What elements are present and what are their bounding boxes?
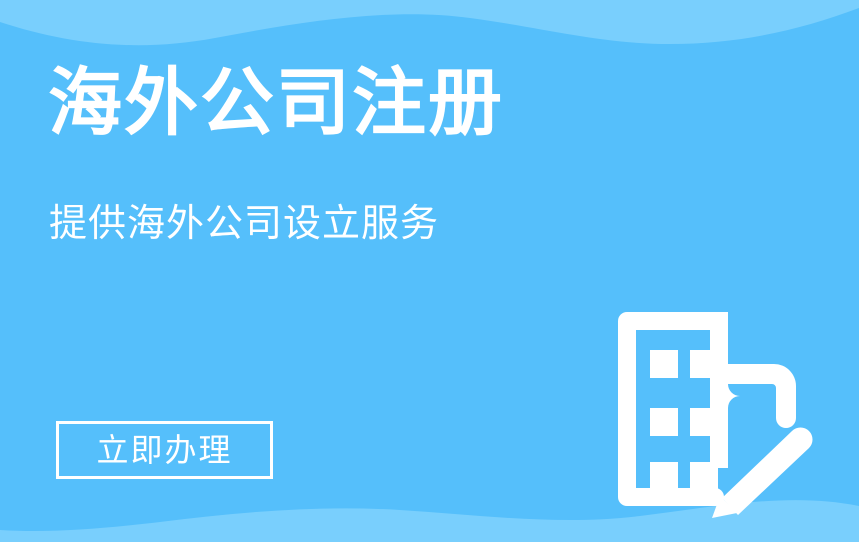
overseas-company-registration-banner: 海外公司注册 提供海外公司设立服务 立即办理	[0, 0, 859, 542]
building-left-edge	[618, 321, 636, 497]
building-window	[690, 462, 718, 490]
building-window	[650, 462, 678, 490]
page-subtitle: 提供海外公司设立服务	[49, 205, 439, 243]
building-edit-icon	[606, 300, 814, 518]
building-right-arm-cap	[710, 364, 728, 395]
apply-now-button-label: 立即办理	[96, 434, 232, 466]
page-title: 海外公司注册	[48, 66, 504, 140]
pencil-body	[722, 427, 813, 515]
apply-now-button[interactable]: 立即办理	[56, 421, 273, 479]
building-window	[650, 408, 678, 436]
banner-content: 海外公司注册 提供海外公司设立服务 立即办理	[0, 0, 859, 542]
building-window	[690, 408, 718, 436]
building-window	[650, 350, 678, 378]
